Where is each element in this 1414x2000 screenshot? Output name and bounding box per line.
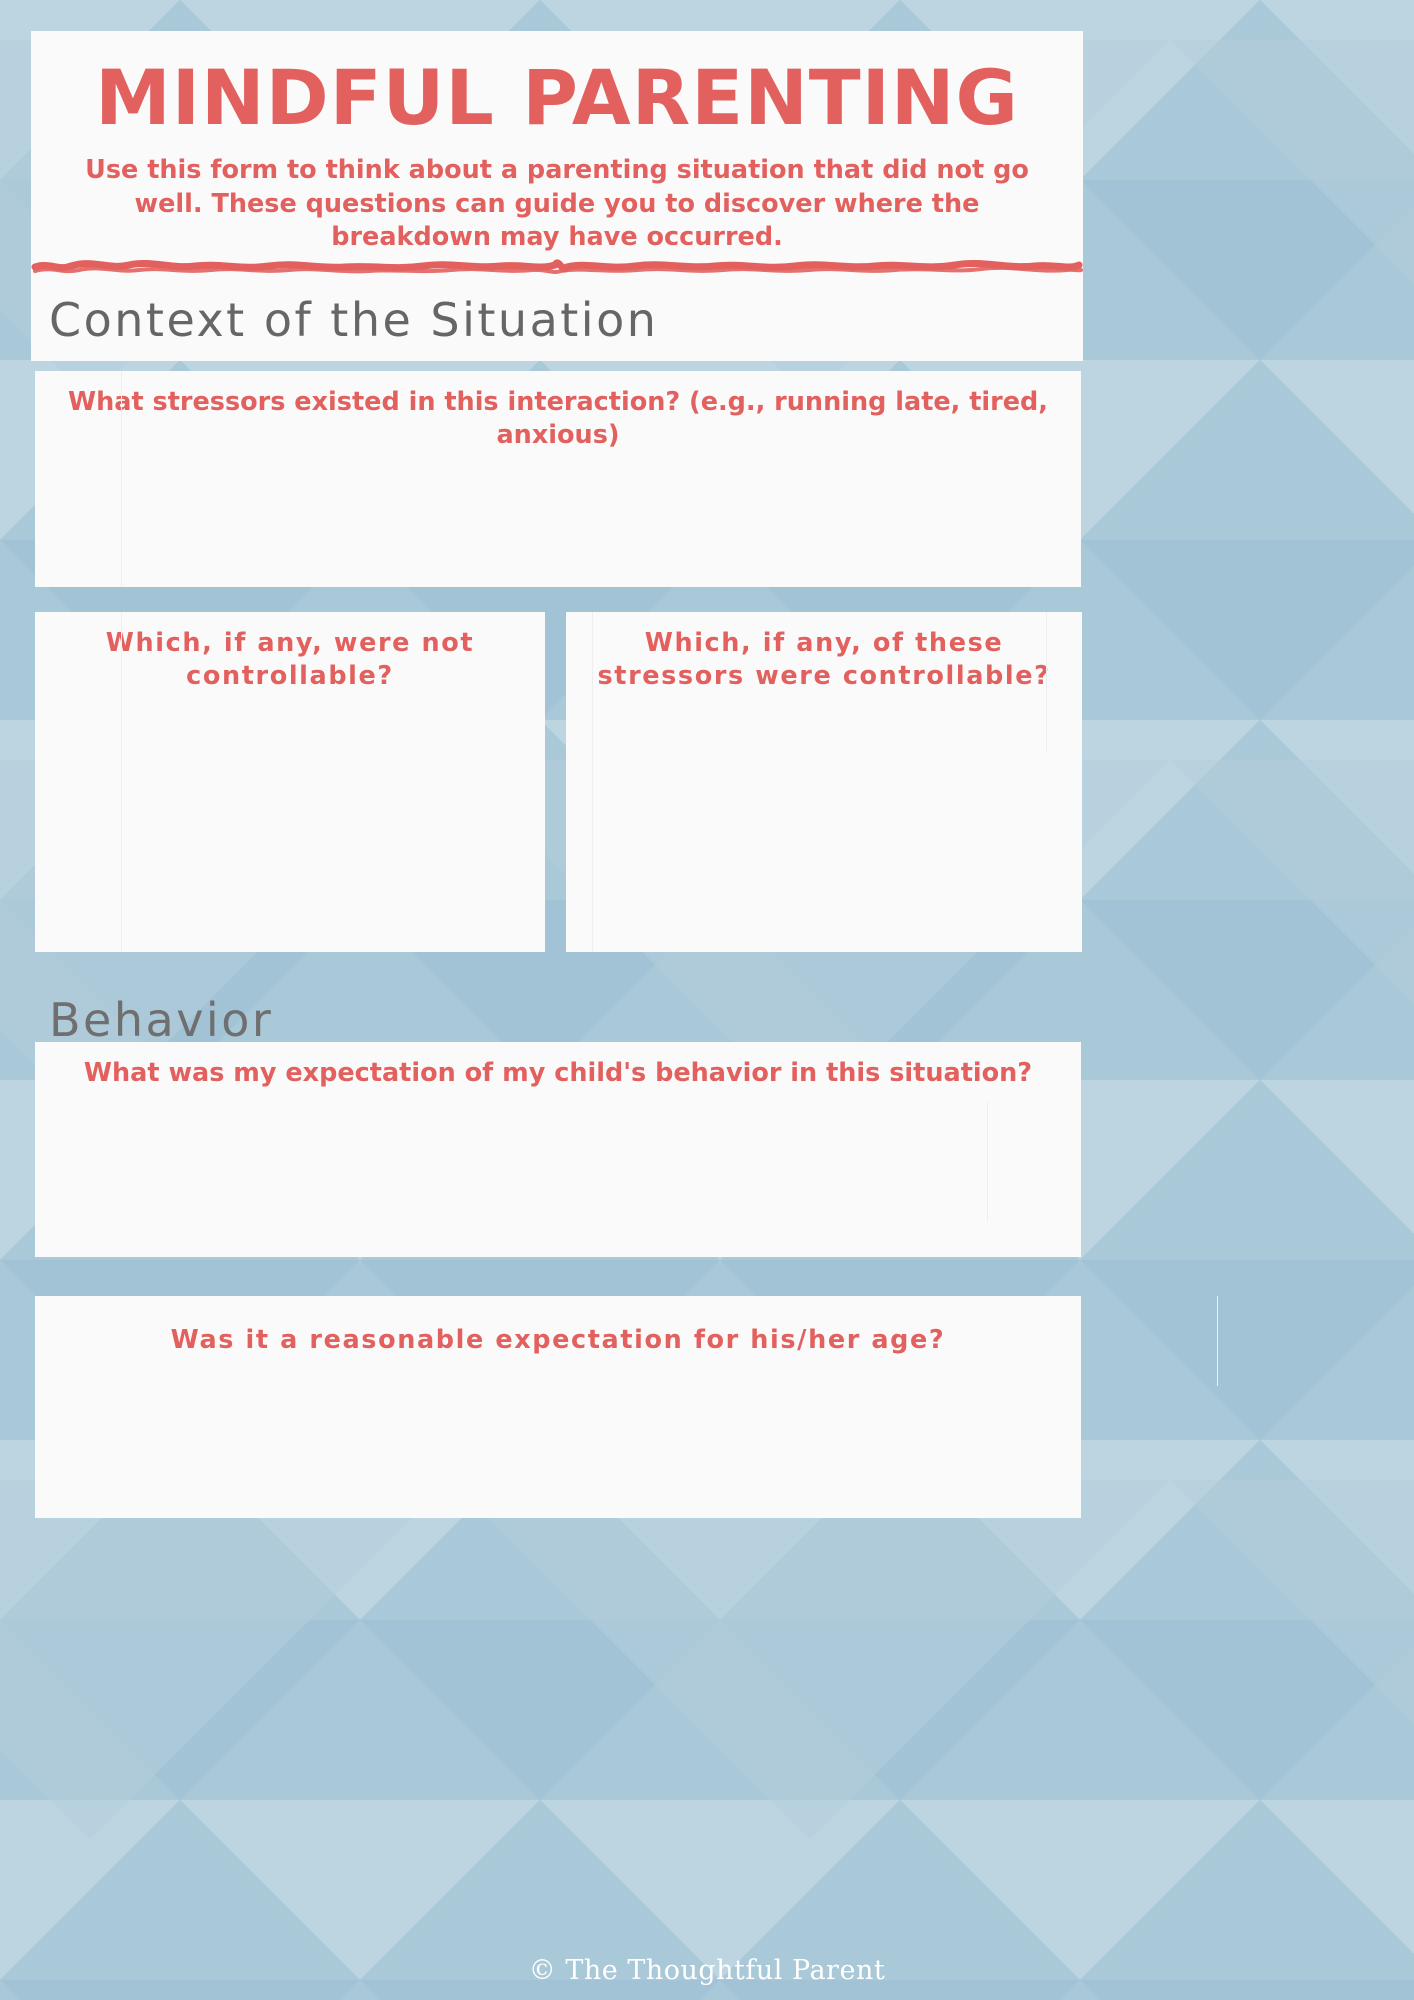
answer-area-stressors[interactable] <box>35 479 1081 587</box>
header-card: MINDFUL PARENTING Use this form to think… <box>31 31 1083 361</box>
section-heading-behavior: Behavior <box>49 993 273 1047</box>
question-prompt-controllable: Which, if any, of these stressors were c… <box>566 612 1082 693</box>
question-card-not-controllable[interactable]: Which, if any, were not controllable? <box>35 612 545 952</box>
page-title: MINDFUL PARENTING <box>31 60 1083 136</box>
page-subtitle: Use this form to think about a parenting… <box>67 154 1047 255</box>
grid-hairline <box>1046 612 1047 752</box>
question-card-expectation[interactable]: What was my expectation of my child's be… <box>35 1042 1081 1257</box>
question-prompt-expectation: What was my expectation of my child's be… <box>35 1042 1081 1090</box>
answer-area-controllable[interactable] <box>566 752 1082 952</box>
question-card-stressors[interactable]: What stressors existed in this interacti… <box>35 371 1081 587</box>
hand-drawn-divider <box>31 253 1083 279</box>
question-prompt-reasonable: Was it a reasonable expectation for his/… <box>35 1296 1081 1357</box>
question-prompt-stressors: What stressors existed in this interacti… <box>35 371 1081 452</box>
answer-area-reasonable[interactable] <box>35 1378 1081 1518</box>
question-prompt-not-controllable: Which, if any, were not controllable? <box>35 612 545 693</box>
section-heading-context: Context of the Situation <box>49 293 658 347</box>
footer-copyright: © The Thoughtful Parent <box>0 1955 1414 1986</box>
answer-area-expectation[interactable] <box>35 1152 1081 1257</box>
divider-icon <box>31 253 1083 279</box>
grid-hairline <box>1217 1296 1218 1386</box>
worksheet-page: MINDFUL PARENTING Use this form to think… <box>0 0 1414 2000</box>
answer-area-not-controllable[interactable] <box>35 722 545 952</box>
question-card-reasonable[interactable]: Was it a reasonable expectation for his/… <box>35 1296 1081 1518</box>
question-card-controllable[interactable]: Which, if any, of these stressors were c… <box>566 612 1082 952</box>
